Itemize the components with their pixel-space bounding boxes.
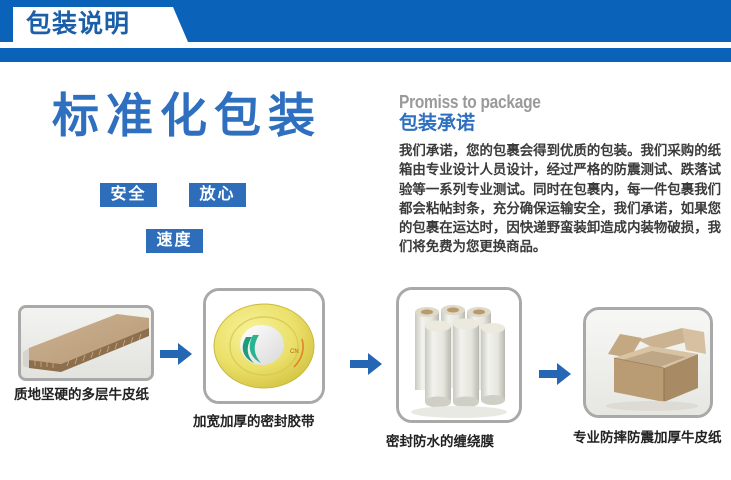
page-header-underline	[0, 48, 731, 62]
hero-tag-safety: 安全	[100, 183, 157, 207]
flow-arrow-icon	[539, 363, 573, 385]
arrow-shaft	[539, 370, 559, 378]
hero-tag-speed: 速度	[146, 229, 203, 253]
stretch-film-rolls-image	[399, 290, 519, 420]
step-image-frame	[583, 307, 713, 418]
arrow-head	[178, 343, 192, 365]
step-image-frame	[18, 305, 154, 381]
flow-arrow-icon	[350, 353, 384, 375]
arrow-shaft	[160, 350, 180, 358]
carton-box-image	[586, 310, 710, 415]
arrow-shaft	[350, 360, 370, 368]
arrow-head	[557, 363, 571, 385]
packaging-steps-row: 质地坚硬的多层牛皮纸	[0, 278, 731, 478]
promise-heading-chinese: 包装承诺	[399, 112, 721, 135]
promise-body-text: 我们承诺，您的包裹会得到优质的包装。我们采购的纸箱由专业设计人员设计，经过严格的…	[399, 141, 721, 257]
promise-block: Promiss to package 包装承诺 我们承诺，您的包裹会得到优质的包…	[399, 93, 721, 257]
step-caption: 质地坚硬的多层牛皮纸	[14, 383, 149, 403]
arrow-head	[368, 353, 382, 375]
svg-text:CN: CN	[290, 349, 299, 355]
tape-roll-image: CN	[206, 291, 322, 401]
kraft-board-image	[21, 308, 151, 378]
step-caption: 密封防水的缠绕膜	[386, 430, 494, 450]
hero-headline: 标准化包装	[52, 92, 322, 139]
flow-arrow-icon	[160, 343, 194, 365]
step-caption: 专业防摔防震加厚牛皮纸	[573, 426, 722, 446]
step-caption: 加宽加厚的密封胶带	[193, 410, 315, 430]
promise-heading-english: Promiss to package	[399, 93, 676, 112]
step-image-frame	[396, 287, 522, 423]
page-title: 包装说明	[26, 7, 176, 42]
hero-tag-reassurance: 放心	[189, 183, 246, 207]
step-image-frame: CN	[203, 288, 325, 404]
